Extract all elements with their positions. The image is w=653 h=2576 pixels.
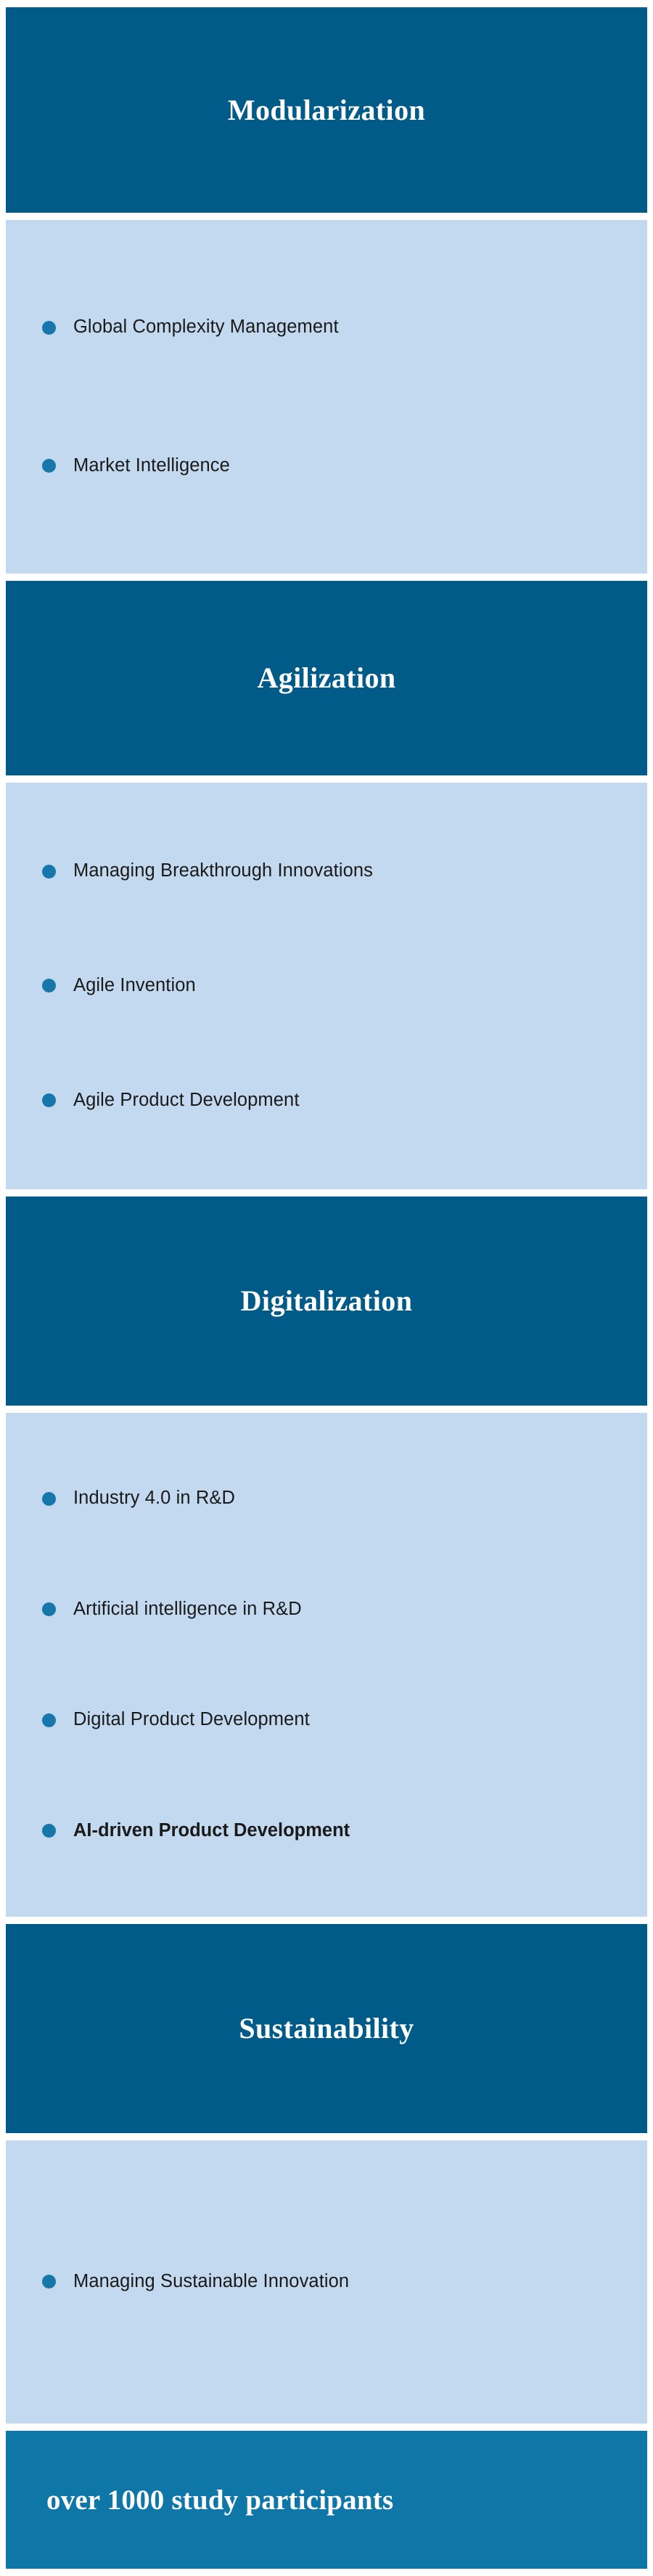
study-participants-text: over 1000 study participants <box>6 2484 393 2516</box>
topic-cluster-poster: Modularization Global Complexity Managem… <box>0 0 653 2576</box>
topic-label: Industry 4.0 in R&D <box>73 1487 235 1510</box>
topic-label: Agile Invention <box>73 974 196 998</box>
topic-list: Industry 4.0 in R&D Artificial intellige… <box>6 1443 647 1886</box>
topic-label: Agile Product Development <box>73 1089 300 1112</box>
bullet-dot-icon <box>42 459 56 473</box>
list-item[interactable]: Digital Product Development <box>6 1665 647 1776</box>
study-participants-banner: over 1000 study participants <box>6 2431 647 2569</box>
section-header-agilization: Agilization <box>6 581 647 775</box>
bullet-dot-icon <box>42 979 56 993</box>
list-item[interactable]: Agile Product Development <box>6 1043 647 1158</box>
bullet-dot-icon <box>42 1492 56 1506</box>
topic-list: Global Complexity Management Market Inte… <box>6 258 647 536</box>
bullet-dot-icon <box>42 865 56 879</box>
section-title: Sustainability <box>224 2012 428 2045</box>
list-item[interactable]: Market Intelligence <box>6 397 647 536</box>
list-item[interactable]: Industry 4.0 in R&D <box>6 1443 647 1554</box>
section-title: Digitalization <box>226 1284 427 1318</box>
topic-label: Managing Sustainable Innovation <box>73 2270 349 2294</box>
bullet-dot-icon <box>42 2275 56 2288</box>
section-topics-sustainability: Managing Sustainable Innovation <box>6 2140 647 2424</box>
list-item[interactable]: Artificial intelligence in R&D <box>6 1554 647 1665</box>
topic-label: Digital Product Development <box>73 1708 310 1732</box>
topic-label: AI-driven Product Development <box>73 1819 350 1843</box>
bullet-dot-icon <box>42 1093 56 1107</box>
topic-list: Managing Breakthrough Innovations Agile … <box>6 814 647 1157</box>
bullet-dot-icon <box>42 1824 56 1838</box>
section-topics-agilization: Managing Breakthrough Innovations Agile … <box>6 783 647 1189</box>
topic-label: Managing Breakthrough Innovations <box>73 860 373 883</box>
topic-label: Global Complexity Management <box>73 316 339 339</box>
section-header-digitalization: Digitalization <box>6 1197 647 1406</box>
section-header-sustainability: Sustainability <box>6 1924 647 2133</box>
list-item[interactable]: Managing Sustainable Innovation <box>6 2190 647 2373</box>
bullet-dot-icon <box>42 321 56 335</box>
topic-label: Artificial intelligence in R&D <box>73 1598 302 1621</box>
bullet-dot-icon <box>42 1602 56 1616</box>
list-item[interactable]: Global Complexity Management <box>6 258 647 397</box>
topic-list: Managing Sustainable Innovation <box>6 2190 647 2373</box>
list-item[interactable]: Agile Invention <box>6 929 647 1043</box>
list-item[interactable]: AI-driven Product Development <box>6 1776 647 1887</box>
topic-label: Market Intelligence <box>73 455 230 478</box>
section-topics-modularization: Global Complexity Management Market Inte… <box>6 220 647 574</box>
section-topics-digitalization: Industry 4.0 in R&D Artificial intellige… <box>6 1413 647 1917</box>
section-header-modularization: Modularization <box>6 7 647 213</box>
list-item[interactable]: Managing Breakthrough Innovations <box>6 814 647 929</box>
bullet-dot-icon <box>42 1713 56 1727</box>
section-title: Modularization <box>213 94 440 127</box>
section-title: Agilization <box>242 661 410 695</box>
